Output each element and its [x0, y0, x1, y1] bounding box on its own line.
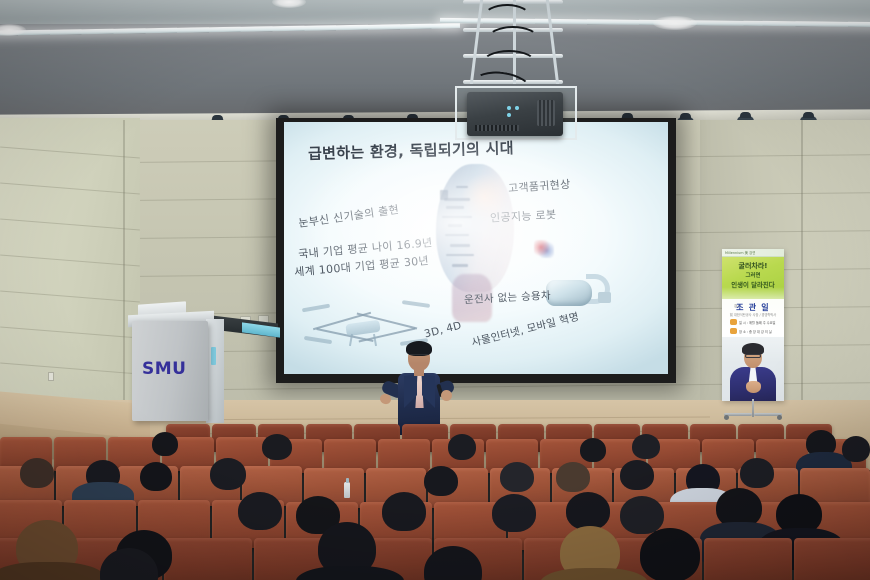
- audience-head: [620, 460, 654, 490]
- audience-head: [424, 466, 458, 496]
- audience-head: [620, 496, 664, 534]
- ceiling-projector: [467, 92, 563, 136]
- banner-bullet-text-2: 장 소 : 중 앙 대 강 의 실: [739, 329, 772, 334]
- audience-head: [556, 462, 590, 492]
- ceiling-light-glow-3: [653, 16, 697, 30]
- banner-brand: Millennium 美 강연: [725, 250, 755, 255]
- portrait-glasses-icon: [745, 354, 761, 358]
- audience-head: [500, 462, 534, 492]
- banner-bullet-text-1: 일 시 : 매월 둘째 주 수요일: [739, 320, 775, 325]
- projector-lens-icon: [537, 100, 555, 126]
- slide-annotation: 운전사 없는 승용차: [464, 288, 552, 308]
- vr-headset-graphic: [546, 274, 608, 306]
- ai-robot-face-graphic: [436, 164, 514, 292]
- seat[interactable]: [794, 538, 870, 580]
- banner-speaker-photo: [722, 337, 784, 401]
- slide-emblem-graphic: [534, 240, 554, 258]
- presenter-right-hand: [441, 390, 452, 401]
- projector-mount: [455, 0, 577, 140]
- wall-seam: [123, 120, 125, 410]
- audience-head: [740, 458, 774, 488]
- slide-annotation: 인공지능 로봇: [490, 206, 557, 225]
- audience-head: [382, 492, 426, 531]
- audience-head: [580, 438, 606, 462]
- audience-head: [262, 434, 292, 460]
- audience-head: [140, 462, 172, 491]
- wall-seam: [801, 120, 803, 420]
- slide-title: 급변하는 환경, 독립되기의 시대: [308, 137, 514, 164]
- audience-head: [492, 494, 536, 532]
- audience-head: [640, 528, 700, 580]
- left-wall: [0, 118, 140, 438]
- banner-sheet: Millennium 美 강연 굴러차라! 그러면 인생이 달라진다 강사 조 …: [722, 249, 784, 401]
- roll-up-banner[interactable]: Millennium 美 강연 굴러차라! 그러면 인생이 달라진다 강사 조 …: [722, 249, 786, 419]
- projection-screen: 급변하는 환경, 독립되기의 시대: [284, 122, 668, 374]
- banner-headline-1: 굴러차라!: [722, 261, 784, 271]
- seat[interactable]: [164, 538, 252, 580]
- water-bottle: [344, 482, 350, 498]
- banner-caster-left: [724, 415, 729, 420]
- slide-annotation: 고객품귀현상: [508, 176, 571, 196]
- audience-head: [238, 492, 282, 530]
- banner-headline-3: 인생이 달라진다: [722, 280, 784, 289]
- podium-logo: SMU: [142, 359, 204, 379]
- audience-head: [20, 458, 54, 488]
- banner-bullet-marker-1: [730, 319, 737, 325]
- presenter-glasses-icon: [409, 354, 429, 359]
- podium-body: SMU: [132, 321, 208, 421]
- audience-head: [448, 434, 476, 460]
- banner-caster-right: [777, 415, 782, 420]
- podium-column: [206, 319, 224, 423]
- audience-head: [566, 492, 610, 530]
- seat[interactable]: [704, 538, 792, 580]
- banner-bullet-marker-2: [730, 328, 737, 334]
- auditorium-scene: 급변하는 환경, 독립되기의 시대: [0, 0, 870, 580]
- podium-slot-light: [211, 347, 216, 365]
- audience-head: [152, 432, 178, 456]
- audience-head: [632, 434, 660, 459]
- banner-subtitle: 前 대한석탄공사 사장 / 경영학박사: [722, 312, 784, 317]
- audience-head: [210, 458, 246, 490]
- audience-head: [842, 436, 870, 462]
- wall-outlet: [48, 372, 54, 381]
- lectern-podium[interactable]: SMU: [126, 303, 276, 425]
- banner-headline-2: 그러면: [722, 271, 784, 279]
- slide-annotation: 눈부신 신기술의 출현: [297, 201, 400, 231]
